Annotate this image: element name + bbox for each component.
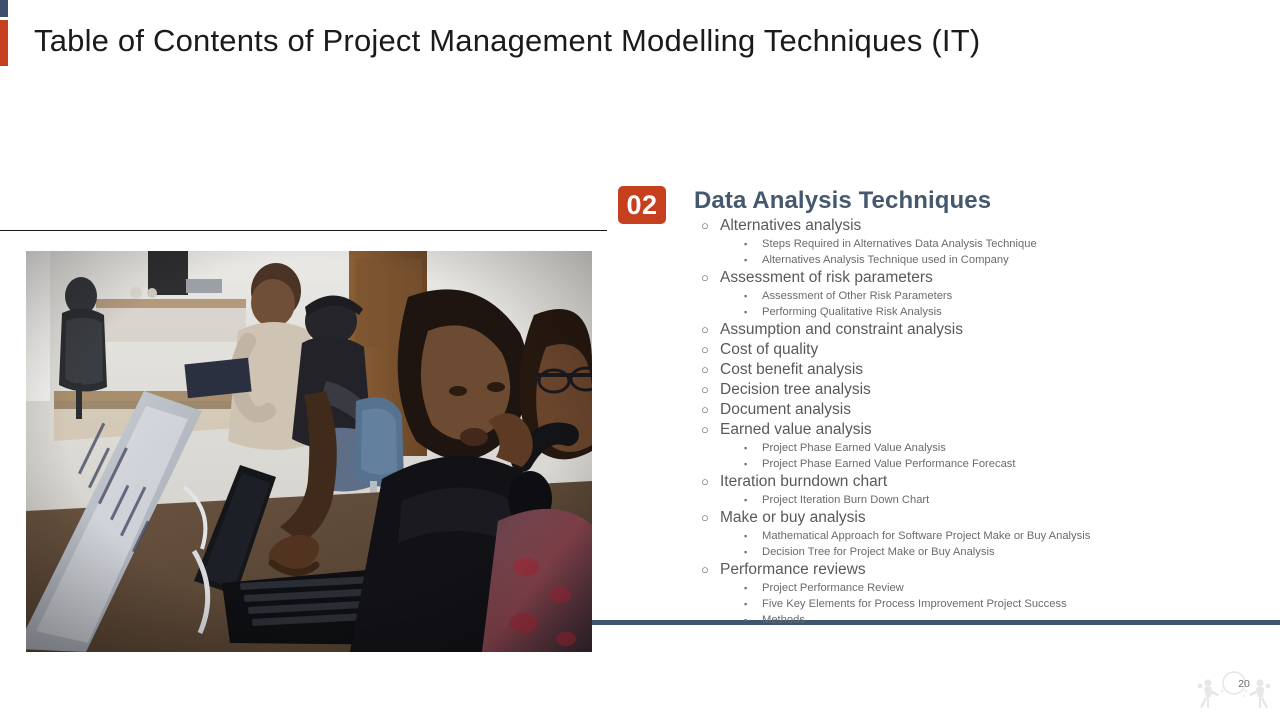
page-title-subject: Project Management Modelling Techniques …	[323, 23, 981, 58]
toc-item-label: Steps Required in Alternatives Data Anal…	[762, 238, 1037, 250]
toc-item-level2[interactable]: ▪Decision Tree for Project Make or Buy A…	[698, 544, 1278, 560]
circle-bullet-icon: ○	[701, 380, 709, 400]
toc-item-label: Project Phase Earned Value Performance F…	[762, 458, 1016, 470]
square-bullet-icon: ▪	[744, 252, 747, 268]
toc-item-label: Make or buy analysis	[720, 509, 866, 526]
toc-item-label: Decision Tree for Project Make or Buy An…	[762, 546, 995, 558]
toc-item-level1[interactable]: ○Alternatives analysis	[698, 216, 1278, 236]
office-team-photo	[26, 251, 592, 652]
toc-item-level2[interactable]: ▪Project Phase Earned Value Analysis	[698, 440, 1278, 456]
circle-bullet-icon: ○	[701, 360, 709, 380]
circle-bullet-icon: ○	[701, 320, 709, 340]
section-number-badge: 02	[618, 186, 666, 224]
toc-item-level2[interactable]: ▪Alternatives Analysis Technique used in…	[698, 252, 1278, 268]
toc-item-label: Mathematical Approach for Software Proje…	[762, 530, 1090, 542]
toc-item-label: Performance reviews	[720, 561, 866, 578]
divider-left	[0, 230, 607, 231]
toc-item-label: Assumption and constraint analysis	[720, 321, 963, 338]
square-bullet-icon: ▪	[744, 288, 747, 304]
toc-item-level1[interactable]: ○Assumption and constraint analysis	[698, 320, 1278, 340]
toc-item-label: Assessment of risk parameters	[720, 269, 933, 286]
toc-item-label: Alternatives Analysis Technique used in …	[762, 254, 1009, 266]
square-bullet-icon: ▪	[744, 528, 747, 544]
circle-bullet-icon: ○	[701, 340, 709, 360]
toc-item-level2[interactable]: ▪Project Iteration Burn Down Chart	[698, 492, 1278, 508]
square-bullet-icon: ▪	[744, 440, 747, 456]
square-bullet-icon: ▪	[744, 544, 747, 560]
circle-bullet-icon: ○	[701, 472, 709, 492]
square-bullet-icon: ▪	[744, 612, 747, 628]
toc-item-level1[interactable]: ○Iteration burndown chart	[698, 472, 1278, 492]
toc-item-label: Decision tree analysis	[720, 381, 871, 398]
square-bullet-icon: ▪	[744, 236, 747, 252]
toc-item-level2[interactable]: ▪Performing Qualitative Risk Analysis	[698, 304, 1278, 320]
toc-item-label: Project Performance Review	[762, 582, 904, 594]
toc-item-label: Alternatives analysis	[720, 217, 861, 234]
accent-bar-red	[0, 20, 8, 66]
toc-item-level2[interactable]: ▪Mathematical Approach for Software Proj…	[698, 528, 1278, 544]
circle-bullet-icon: ○	[701, 400, 709, 420]
toc-item-label: Iteration burndown chart	[720, 473, 887, 490]
circle-bullet-icon: ○	[701, 560, 709, 580]
toc-item-label: Project Phase Earned Value Analysis	[762, 442, 946, 454]
circle-bullet-icon: ○	[701, 420, 709, 440]
toc-item-label: Performing Qualitative Risk Analysis	[762, 306, 942, 318]
toc-item-level1[interactable]: ○Assessment of risk parameters	[698, 268, 1278, 288]
toc-item-label: Project Iteration Burn Down Chart	[762, 494, 929, 506]
square-bullet-icon: ▪	[744, 304, 747, 320]
square-bullet-icon: ▪	[744, 492, 747, 508]
toc-item-level1[interactable]: ○Earned value analysis	[698, 420, 1278, 440]
toc-item-level1[interactable]: ○Decision tree analysis	[698, 380, 1278, 400]
toc-item-level1[interactable]: ○Document analysis	[698, 400, 1278, 420]
toc-item-label: Assessment of Other Risk Parameters	[762, 290, 952, 302]
toc-item-label: Five Key Elements for Process Improvemen…	[762, 598, 1067, 610]
toc-item-level2[interactable]: ▪Project Phase Earned Value Performance …	[698, 456, 1278, 472]
toc-item-level1[interactable]: ○Make or buy analysis	[698, 508, 1278, 528]
page-number: 20	[1233, 678, 1255, 690]
page-title: Table of Contents of Project Management …	[34, 18, 980, 63]
square-bullet-icon: ▪	[744, 596, 747, 612]
toc-item-level1[interactable]: ○Cost of quality	[698, 340, 1278, 360]
toc-item-label: Earned value analysis	[720, 421, 872, 438]
square-bullet-icon: ▪	[744, 456, 747, 472]
square-bullet-icon: ▪	[744, 580, 747, 596]
toc-item-label: Document analysis	[720, 401, 851, 418]
accent-bar-blue	[0, 0, 8, 17]
circle-bullet-icon: ○	[701, 268, 709, 288]
section-title: Data Analysis Techniques	[694, 186, 991, 216]
circle-bullet-icon: ○	[701, 508, 709, 528]
toc-item-level1[interactable]: ○Cost benefit analysis	[698, 360, 1278, 380]
circle-bullet-icon: ○	[701, 216, 709, 236]
toc-item-level2[interactable]: ▪Methods	[698, 612, 1278, 628]
toc-item-level2[interactable]: ▪Five Key Elements for Process Improveme…	[698, 596, 1278, 612]
toc-list: ○Alternatives analysis▪Steps Required in…	[698, 216, 1278, 628]
toc-item-label: Methods	[762, 614, 805, 626]
toc-item-level2[interactable]: ▪Project Performance Review	[698, 580, 1278, 596]
toc-item-level2[interactable]: ▪Assessment of Other Risk Parameters	[698, 288, 1278, 304]
page-title-prefix: Table of Contents of	[34, 23, 323, 58]
toc-item-level1[interactable]: ○Performance reviews	[698, 560, 1278, 580]
toc-item-label: Cost benefit analysis	[720, 361, 863, 378]
toc-item-level2[interactable]: ▪Steps Required in Alternatives Data Ana…	[698, 236, 1278, 252]
toc-item-label: Cost of quality	[720, 341, 818, 358]
